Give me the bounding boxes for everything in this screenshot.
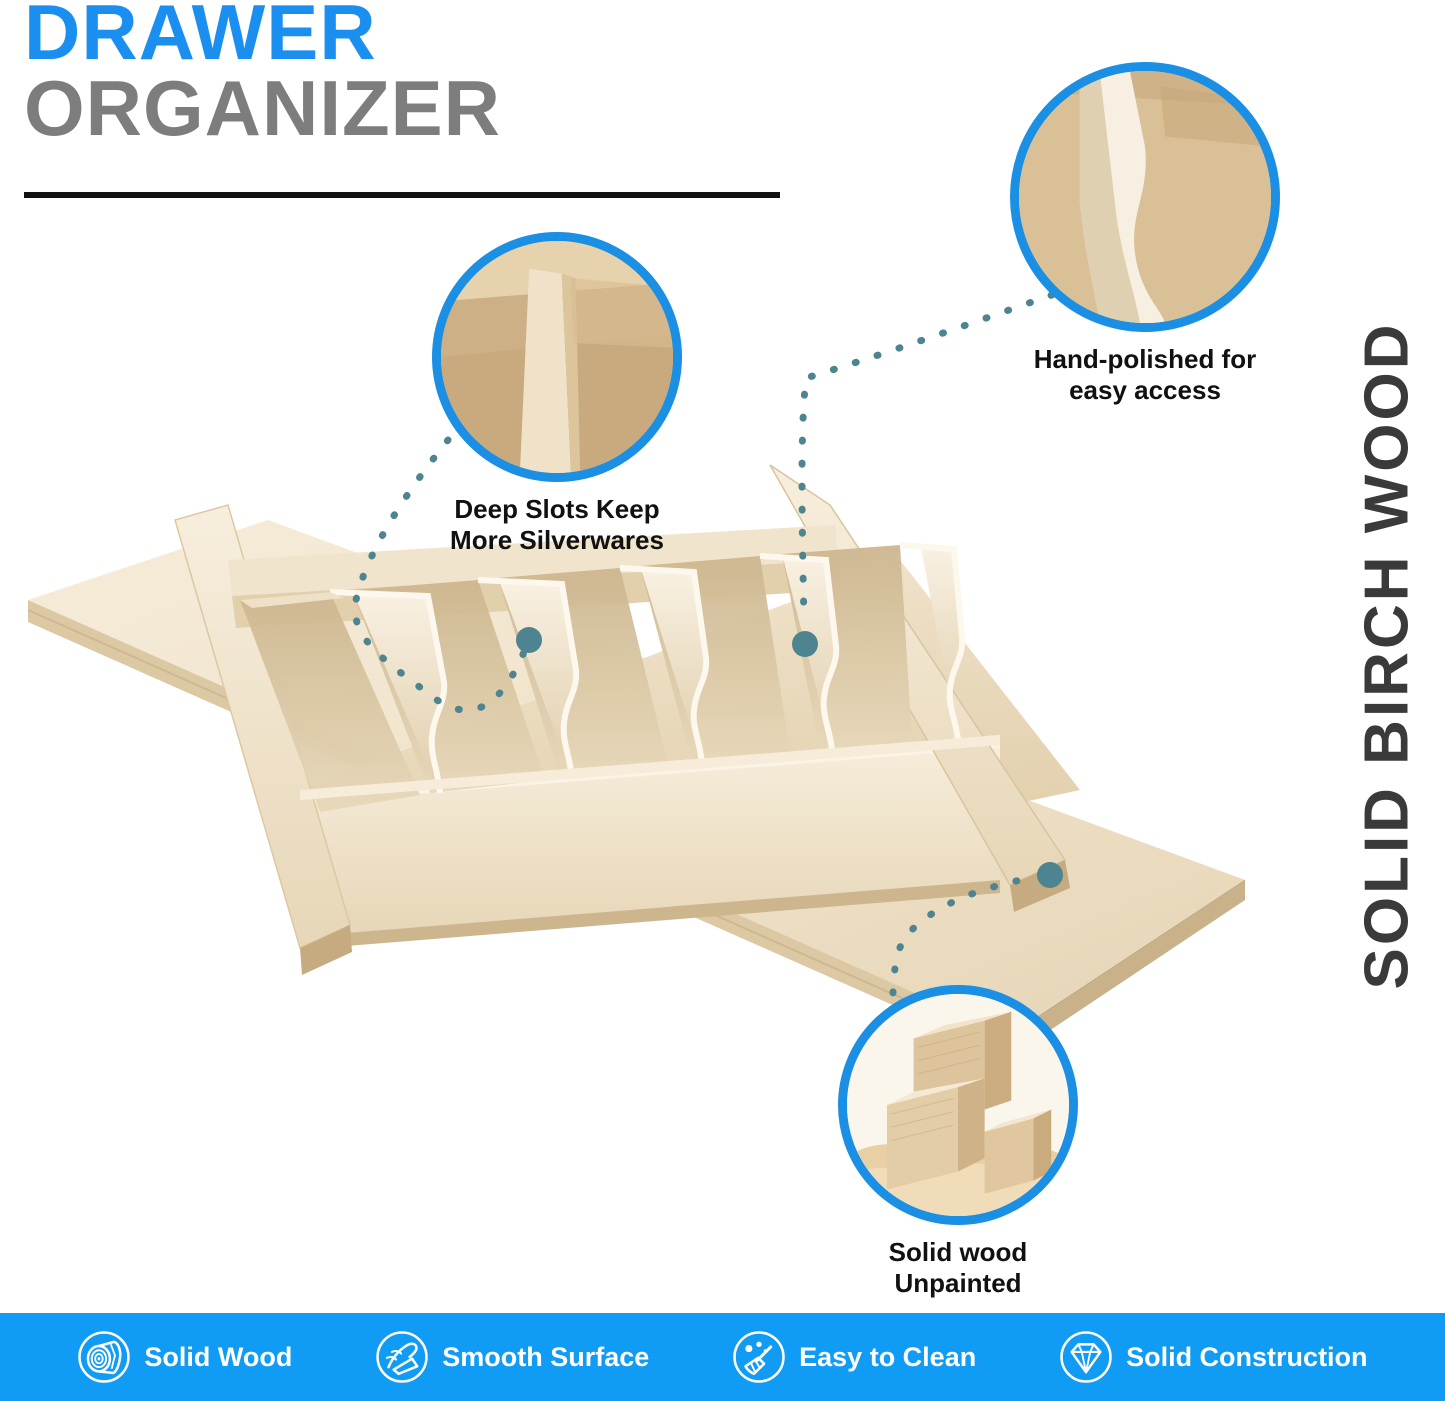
- feature-label-solid-wood: Solid Wood: [144, 1342, 292, 1373]
- feature-label-solid-construction: Solid Construction: [1126, 1342, 1367, 1373]
- diamond-icon: [1059, 1330, 1113, 1384]
- wood-log-icon: [77, 1330, 131, 1384]
- smooth-surface-icon: [375, 1330, 429, 1384]
- callout-label-solid-wood: Solid wood Unpainted: [838, 1237, 1078, 1298]
- feature-solid-construction: Solid Construction: [1059, 1330, 1367, 1384]
- broom-icon: [732, 1330, 786, 1384]
- feature-solid-wood: Solid Wood: [77, 1330, 292, 1384]
- callout-photo-polished-edge: [1010, 62, 1280, 332]
- feature-label-smooth-surface: Smooth Surface: [442, 1342, 649, 1373]
- callout-label-hand-polished: Hand-polished for easy access: [1010, 344, 1280, 405]
- callout-solid-wood: Solid wood Unpainted: [838, 985, 1078, 1298]
- callout-deep-slots: Deep Slots Keep More Silverwares: [432, 232, 682, 555]
- feature-easy-to-clean: Easy to Clean: [732, 1330, 976, 1384]
- callout-photo-wood-blocks: [838, 985, 1078, 1225]
- feature-smooth-surface: Smooth Surface: [375, 1330, 649, 1384]
- callout-hand-polished: Hand-polished for easy access: [1010, 62, 1280, 405]
- callout-label-deep-slots: Deep Slots Keep More Silverwares: [432, 494, 682, 555]
- callout-photo-wood-joint: [432, 232, 682, 482]
- feature-label-easy-to-clean: Easy to Clean: [799, 1342, 976, 1373]
- feature-bar: Solid Wood Smooth Surface Easy: [0, 1313, 1445, 1401]
- infographic-canvas: DRAWER ORGANIZER SOLID BIRCH WOOD: [0, 0, 1445, 1401]
